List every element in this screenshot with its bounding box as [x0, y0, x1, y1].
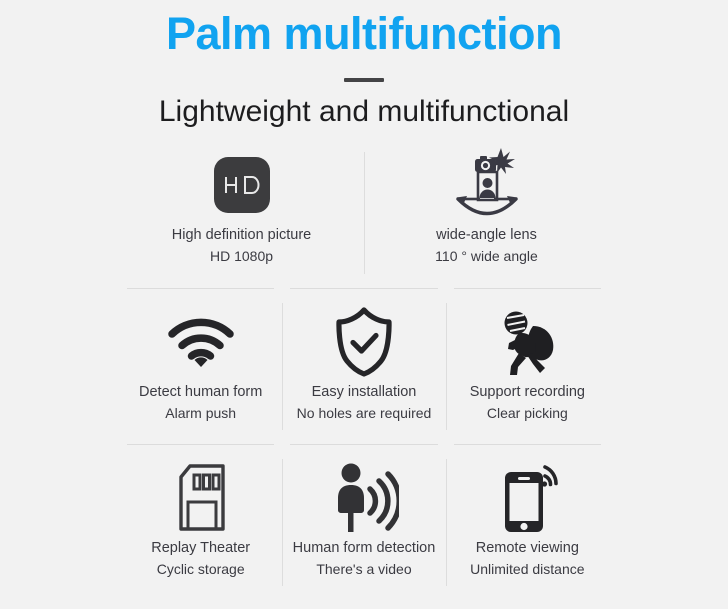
- hd-badge-icon: [214, 146, 270, 224]
- feature-cell-recording: Support recording Clear picking: [446, 289, 609, 444]
- feature-cell-wifi: Detect human form Alarm push: [119, 289, 282, 444]
- feature-caption-line1: Remote viewing: [476, 537, 579, 559]
- feature-cell-wide-angle: wide-angle lens 110 ° wide angle: [364, 138, 609, 288]
- feature-row-3: Replay Theater Cyclic storage Human form…: [119, 445, 609, 600]
- sd-card-icon: [173, 459, 229, 537]
- shield-check-icon: [333, 303, 395, 381]
- feature-caption-line2: HD 1080p: [210, 246, 273, 268]
- human-detection-signal-icon: [329, 459, 399, 537]
- feature-caption-line2: 110 ° wide angle: [435, 246, 538, 268]
- title-divider: [344, 78, 384, 82]
- feature-caption-line1: wide-angle lens: [436, 224, 537, 246]
- wifi-icon: [166, 303, 236, 381]
- smartphone-signal-icon: [495, 459, 559, 537]
- page-title: Palm multifunction: [0, 6, 728, 62]
- feature-caption-line2: Alarm push: [165, 403, 236, 425]
- page-subtitle: Lightweight and multifunctional: [0, 94, 728, 130]
- feature-caption-line1: Detect human form: [139, 381, 262, 403]
- feature-caption-line1: Human form detection: [293, 537, 436, 559]
- feature-caption-line2: Clear picking: [487, 403, 568, 425]
- feature-caption-line2: There's a video: [316, 559, 411, 581]
- thief-with-sack-icon: [495, 303, 559, 381]
- wide-angle-camera-icon: [444, 146, 530, 224]
- feature-grid: High definition picture HD 1080p: [119, 138, 609, 600]
- feature-caption-line2: Unlimited distance: [470, 559, 584, 581]
- feature-caption-line1: Easy installation: [312, 381, 417, 403]
- feature-cell-shield: Easy installation No holes are required: [282, 289, 445, 444]
- feature-caption-line1: Support recording: [470, 381, 585, 403]
- feature-row-1: High definition picture HD 1080p: [119, 138, 609, 288]
- feature-cell-sd-card: Replay Theater Cyclic storage: [119, 445, 282, 600]
- feature-caption-line1: High definition picture: [172, 224, 311, 246]
- feature-caption-line2: Cyclic storage: [157, 559, 245, 581]
- feature-caption-line1: Replay Theater: [151, 537, 250, 559]
- feature-cell-remote-viewing: Remote viewing Unlimited distance: [446, 445, 609, 600]
- feature-row-2: Detect human form Alarm push Easy instal…: [119, 289, 609, 444]
- feature-caption-line2: No holes are required: [297, 403, 432, 425]
- feature-cell-human-detection: Human form detection There's a video: [282, 445, 445, 600]
- page-header: Palm multifunction Lightweight and multi…: [0, 0, 728, 130]
- feature-cell-hd: High definition picture HD 1080p: [119, 138, 364, 288]
